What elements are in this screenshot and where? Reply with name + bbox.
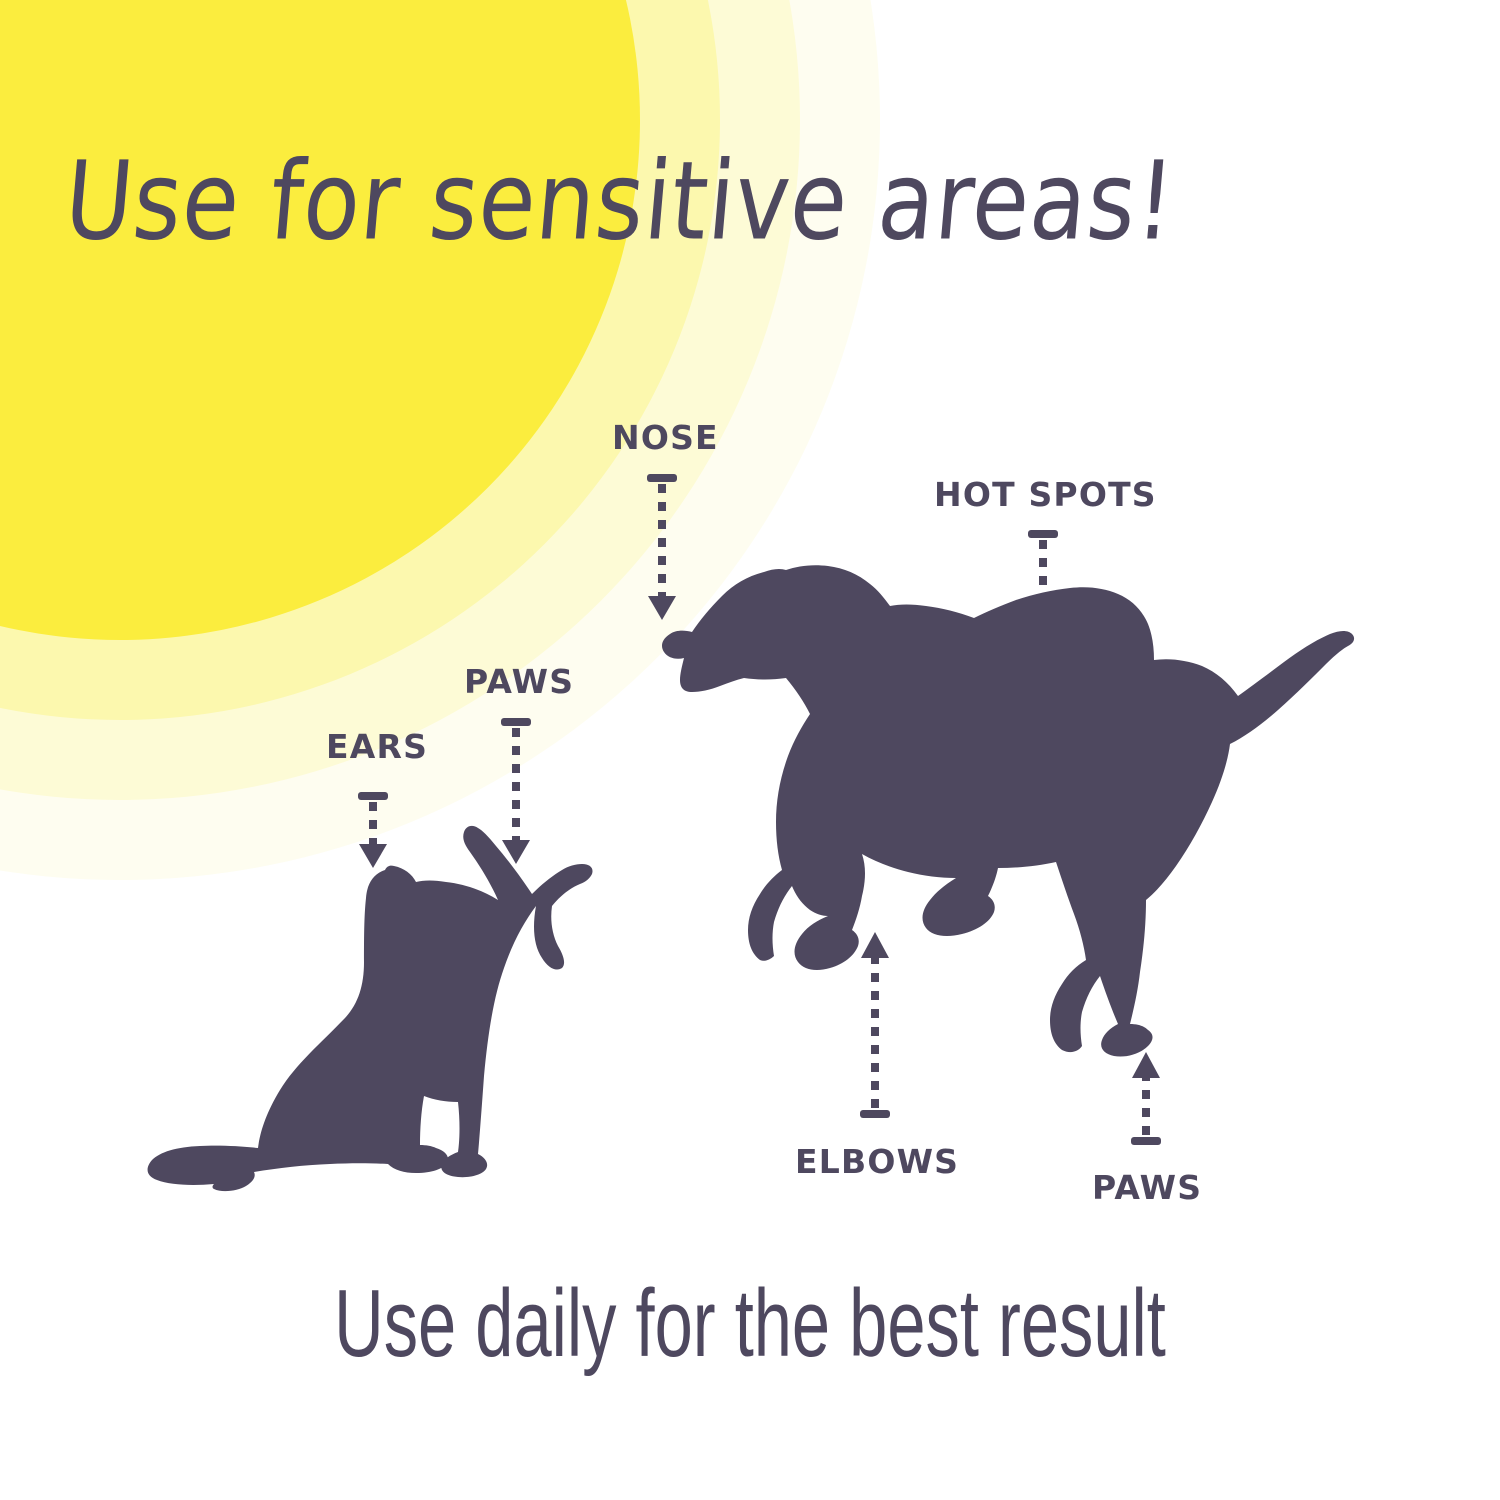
callout-arrow-ears	[358, 792, 388, 868]
callout-label-elbows: ELBOWS	[795, 1142, 959, 1181]
footer-text: Use daily for the best result	[90, 1268, 1410, 1379]
callout-label-ears: EARS	[326, 727, 428, 766]
callout-arrow-paws-cat	[501, 718, 531, 864]
callout-label-nose: NOSE	[612, 418, 719, 457]
cat-silhouette	[148, 826, 593, 1191]
callout-arrow-paws-dog	[1131, 1052, 1161, 1145]
callout-arrow-nose	[647, 474, 677, 620]
callout-arrow-elbows	[860, 932, 890, 1118]
poster-canvas: Use for sensitive areas!	[0, 0, 1500, 1500]
callout-label-paws-cat: PAWS	[464, 662, 574, 701]
dog-silhouette	[662, 565, 1354, 1056]
callout-label-paws-dog: PAWS	[1092, 1168, 1202, 1207]
callout-label-hot-spots: HOT SPOTS	[934, 475, 1157, 514]
